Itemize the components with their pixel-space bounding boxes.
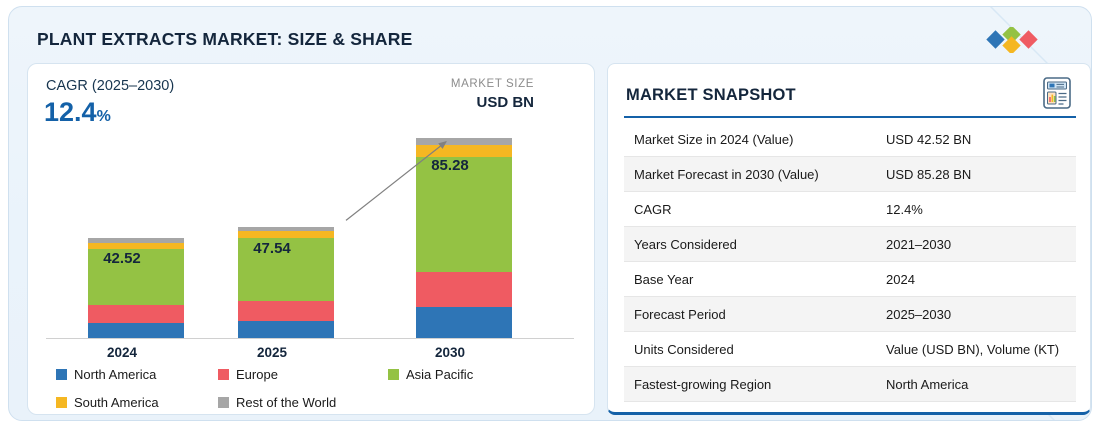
legend-swatch-north-america: [56, 369, 67, 380]
table-row: Years Considered 2021–2030: [624, 227, 1076, 262]
legend-label-south-america: South America: [74, 395, 159, 410]
legend-label-europe: Europe: [236, 367, 278, 382]
bar-segment-2025-europe: [238, 301, 334, 321]
x-axis-line: [46, 338, 574, 339]
legend-item-rest-of-the-world: Rest of the World: [218, 395, 336, 410]
table-row: Units Considered Value (USD BN), Volume …: [624, 332, 1076, 367]
bar-segment-2024-europe: [88, 305, 184, 323]
snapshot-key-5: Forecast Period: [624, 297, 876, 332]
xtick-2024: 2024: [62, 345, 182, 360]
legend-item-south-america: South America: [56, 395, 218, 410]
legend-label-rest-of-the-world: Rest of the World: [236, 395, 336, 410]
bar-segment-2025-north-america: [238, 321, 334, 338]
chart-legend: North America Europe Asia Pacific South …: [56, 367, 576, 410]
page-title: PLANT EXTRACTS MARKET: SIZE & SHARE: [37, 29, 412, 50]
snapshot-value-0: USD 42.52 BN: [876, 122, 1076, 157]
bar-total-2024: 42.52: [62, 250, 182, 267]
snapshot-value-4: 2024: [876, 262, 1076, 297]
report-document-icon: [1040, 76, 1074, 110]
bar-total-2025: 47.54: [212, 240, 332, 257]
snapshot-key-0: Market Size in 2024 (Value): [624, 122, 876, 157]
table-row: Fastest-growing Region North America: [624, 367, 1076, 402]
bar-segment-2030-north-america: [416, 307, 512, 338]
snapshot-key-4: Base Year: [624, 262, 876, 297]
snapshot-title: MARKET SNAPSHOT: [626, 86, 796, 105]
snapshot-value-5: 2025–2030: [876, 297, 1076, 332]
legend-item-europe: Europe: [218, 367, 388, 382]
bar-segment-2025-south-america: [238, 231, 334, 238]
snapshot-value-2: 12.4%: [876, 192, 1076, 227]
bar-segment-2030-europe: [416, 272, 512, 308]
legend-item-asia-pacific: Asia Pacific: [388, 367, 473, 382]
legend-item-north-america: North America: [56, 367, 218, 382]
bar-segment-2024-north-america: [88, 323, 184, 338]
legend-swatch-rest-of-the-world: [218, 397, 229, 408]
chart-card: CAGR (2025–2030) 12.4% MARKET SIZE USD B…: [27, 63, 595, 415]
snapshot-value-7: North America: [876, 367, 1076, 402]
cagr-label: CAGR (2025–2030): [46, 78, 174, 94]
screenshot-root: PLANT EXTRACTS MARKET: SIZE & SHARE CAGR…: [0, 0, 1100, 429]
four-diamonds-logo: [985, 27, 1057, 53]
legend-swatch-europe: [218, 369, 229, 380]
market-size-label: MARKET SIZE: [451, 78, 534, 90]
snapshot-key-3: Years Considered: [624, 227, 876, 262]
legend-swatch-asia-pacific: [388, 369, 399, 380]
table-row: Market Size in 2024 (Value) USD 42.52 BN: [624, 122, 1076, 157]
market-snapshot-card: MARKET SNAPSHOT Marke: [607, 63, 1091, 415]
snapshot-value-3: 2021–2030: [876, 227, 1076, 262]
bar-segment-2030-rest-of-the-world: [416, 138, 512, 146]
table-row: CAGR 12.4%: [624, 192, 1076, 227]
snapshot-value-6: Value (USD BN), Volume (KT): [876, 332, 1076, 367]
xtick-2025: 2025: [212, 345, 332, 360]
stacked-bar-plot: [46, 122, 578, 338]
legend-label-north-america: North America: [74, 367, 156, 382]
legend-swatch-south-america: [56, 397, 67, 408]
snapshot-key-7: Fastest-growing Region: [624, 367, 876, 402]
snapshot-key-6: Units Considered: [624, 332, 876, 367]
snapshot-title-underline: [624, 116, 1076, 118]
snapshot-key-1: Market Forecast in 2030 (Value): [624, 157, 876, 192]
table-row: Forecast Period 2025–2030: [624, 297, 1076, 332]
bar-segment-2030-asia-pacific: [416, 157, 512, 271]
table-row: Market Forecast in 2030 (Value) USD 85.2…: [624, 157, 1076, 192]
page-frame: PLANT EXTRACTS MARKET: SIZE & SHARE CAGR…: [8, 6, 1092, 421]
legend-label-asia-pacific: Asia Pacific: [406, 367, 473, 382]
bar-segment-2030-south-america: [416, 145, 512, 157]
table-row: Base Year 2024: [624, 262, 1076, 297]
xtick-2030: 2030: [390, 345, 510, 360]
market-size-unit: USD BN: [476, 94, 534, 111]
snapshot-key-2: CAGR: [624, 192, 876, 227]
snapshot-value-1: USD 85.28 BN: [876, 157, 1076, 192]
snapshot-table: Market Size in 2024 (Value) USD 42.52 BN…: [624, 122, 1076, 402]
bar-total-2030: 85.28: [390, 157, 510, 174]
